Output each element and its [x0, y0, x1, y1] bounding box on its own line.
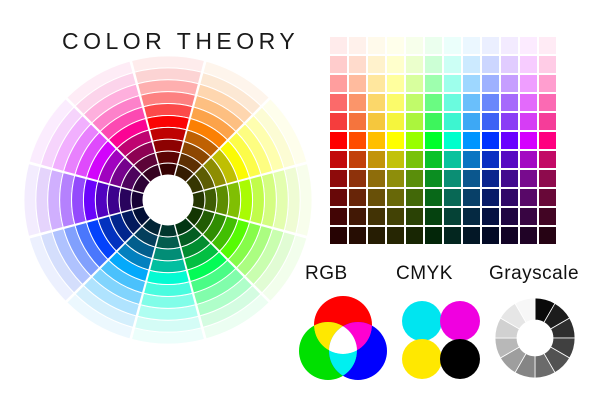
color-swatch — [330, 94, 347, 111]
color-swatch — [482, 151, 499, 168]
color-swatch — [444, 37, 461, 54]
color-swatch — [501, 75, 518, 92]
color-swatch — [463, 113, 480, 130]
color-swatch — [444, 151, 461, 168]
color-swatch — [349, 170, 366, 187]
color-swatch — [463, 75, 480, 92]
color-swatch — [387, 94, 404, 111]
color-swatch — [349, 227, 366, 244]
color-swatch — [501, 208, 518, 225]
color-swatch — [482, 189, 499, 206]
color-swatch — [368, 208, 385, 225]
color-swatch — [425, 75, 442, 92]
color-swatch — [368, 37, 385, 54]
color-swatch — [330, 132, 347, 149]
color-swatch — [520, 227, 537, 244]
color-swatch — [444, 170, 461, 187]
color-swatch — [349, 208, 366, 225]
color-swatch — [425, 208, 442, 225]
color-swatch — [539, 132, 556, 149]
color-swatch — [482, 113, 499, 130]
color-swatch — [520, 170, 537, 187]
color-swatch — [463, 151, 480, 168]
color-swatch — [444, 189, 461, 206]
color-swatch — [539, 170, 556, 187]
color-swatch — [330, 208, 347, 225]
color-swatch — [501, 132, 518, 149]
color-swatch — [463, 189, 480, 206]
color-swatch — [539, 37, 556, 54]
color-swatch — [368, 56, 385, 73]
color-swatch — [520, 94, 537, 111]
color-swatch — [330, 37, 347, 54]
color-swatch — [368, 151, 385, 168]
color-swatch — [387, 37, 404, 54]
color-swatch — [406, 208, 423, 225]
color-swatch — [482, 37, 499, 54]
color-swatch — [368, 189, 385, 206]
color-swatch — [406, 189, 423, 206]
color-swatch — [425, 189, 442, 206]
color-swatch — [368, 170, 385, 187]
color-swatch — [425, 56, 442, 73]
color-swatch — [539, 151, 556, 168]
color-swatch — [501, 151, 518, 168]
color-swatch — [444, 208, 461, 225]
color-swatch — [539, 208, 556, 225]
color-swatch — [349, 113, 366, 130]
color-swatch — [482, 56, 499, 73]
cmyk-label: CMYK — [396, 263, 453, 285]
color-swatch — [406, 170, 423, 187]
color-swatch — [463, 37, 480, 54]
color-swatch — [520, 151, 537, 168]
color-swatch — [330, 56, 347, 73]
color-swatch — [501, 227, 518, 244]
color-swatch — [539, 94, 556, 111]
color-swatch — [463, 208, 480, 225]
color-swatch — [501, 189, 518, 206]
color-swatch — [330, 75, 347, 92]
color-swatch — [349, 189, 366, 206]
color-swatch — [330, 151, 347, 168]
color-swatch — [406, 132, 423, 149]
color-swatch — [406, 151, 423, 168]
color-swatch — [482, 227, 499, 244]
color-swatch — [425, 132, 442, 149]
color-swatch — [387, 227, 404, 244]
color-swatch — [501, 56, 518, 73]
color-swatch — [330, 113, 347, 130]
color-swatch — [425, 113, 442, 130]
color-swatch — [444, 132, 461, 149]
color-swatch — [520, 37, 537, 54]
swatch-grid — [330, 37, 556, 244]
color-swatch — [387, 189, 404, 206]
color-swatch — [520, 208, 537, 225]
color-swatch — [444, 75, 461, 92]
color-swatch — [387, 208, 404, 225]
color-swatch — [349, 151, 366, 168]
color-swatch — [406, 113, 423, 130]
color-swatch — [330, 170, 347, 187]
color-swatch — [406, 37, 423, 54]
color-swatch — [406, 227, 423, 244]
color-swatch — [425, 151, 442, 168]
color-swatch — [463, 170, 480, 187]
color-swatch — [349, 132, 366, 149]
color-swatch — [387, 151, 404, 168]
color-swatch — [539, 56, 556, 73]
color-swatch — [406, 56, 423, 73]
color-swatch — [501, 113, 518, 130]
color-swatch — [406, 94, 423, 111]
color-swatch — [444, 56, 461, 73]
color-swatch — [520, 56, 537, 73]
color-swatch — [539, 227, 556, 244]
color-swatch — [482, 170, 499, 187]
color-swatch — [387, 170, 404, 187]
color-swatch — [368, 75, 385, 92]
rgb-additive-diagram — [297, 294, 389, 382]
color-swatch — [368, 132, 385, 149]
color-swatch — [482, 75, 499, 92]
color-swatch — [463, 56, 480, 73]
color-swatch — [444, 113, 461, 130]
color-swatch — [539, 113, 556, 130]
color-swatch — [539, 189, 556, 206]
color-wheel — [22, 56, 314, 348]
color-swatch — [425, 94, 442, 111]
color-swatch — [387, 56, 404, 73]
color-swatch — [349, 94, 366, 111]
color-swatch — [501, 94, 518, 111]
color-swatch — [349, 56, 366, 73]
color-swatch — [501, 37, 518, 54]
color-swatch — [425, 227, 442, 244]
color-swatch — [368, 227, 385, 244]
color-swatch — [387, 113, 404, 130]
color-swatch — [539, 75, 556, 92]
color-swatch — [330, 189, 347, 206]
page-title: COLOR THEORY — [62, 28, 299, 55]
color-swatch — [387, 132, 404, 149]
color-swatch — [463, 132, 480, 149]
color-swatch — [368, 113, 385, 130]
color-swatch — [520, 132, 537, 149]
color-swatch — [520, 189, 537, 206]
color-swatch — [406, 75, 423, 92]
color-swatch — [482, 208, 499, 225]
color-swatch — [501, 170, 518, 187]
rgb-label: RGB — [305, 263, 348, 285]
grayscale-label: Grayscale — [489, 263, 579, 285]
color-swatch — [368, 94, 385, 111]
grayscale-wheel — [491, 294, 579, 382]
color-swatch — [482, 94, 499, 111]
color-swatch — [425, 170, 442, 187]
color-swatch — [425, 37, 442, 54]
color-swatch — [349, 75, 366, 92]
color-swatch — [444, 94, 461, 111]
color-swatch — [463, 227, 480, 244]
color-swatch — [387, 75, 404, 92]
color-swatch — [520, 113, 537, 130]
color-swatch — [520, 75, 537, 92]
color-swatch — [444, 227, 461, 244]
color-swatch — [482, 132, 499, 149]
cmyk-subtractive-diagram — [398, 297, 484, 381]
color-swatch — [349, 37, 366, 54]
color-swatch — [463, 94, 480, 111]
color-swatch — [330, 227, 347, 244]
